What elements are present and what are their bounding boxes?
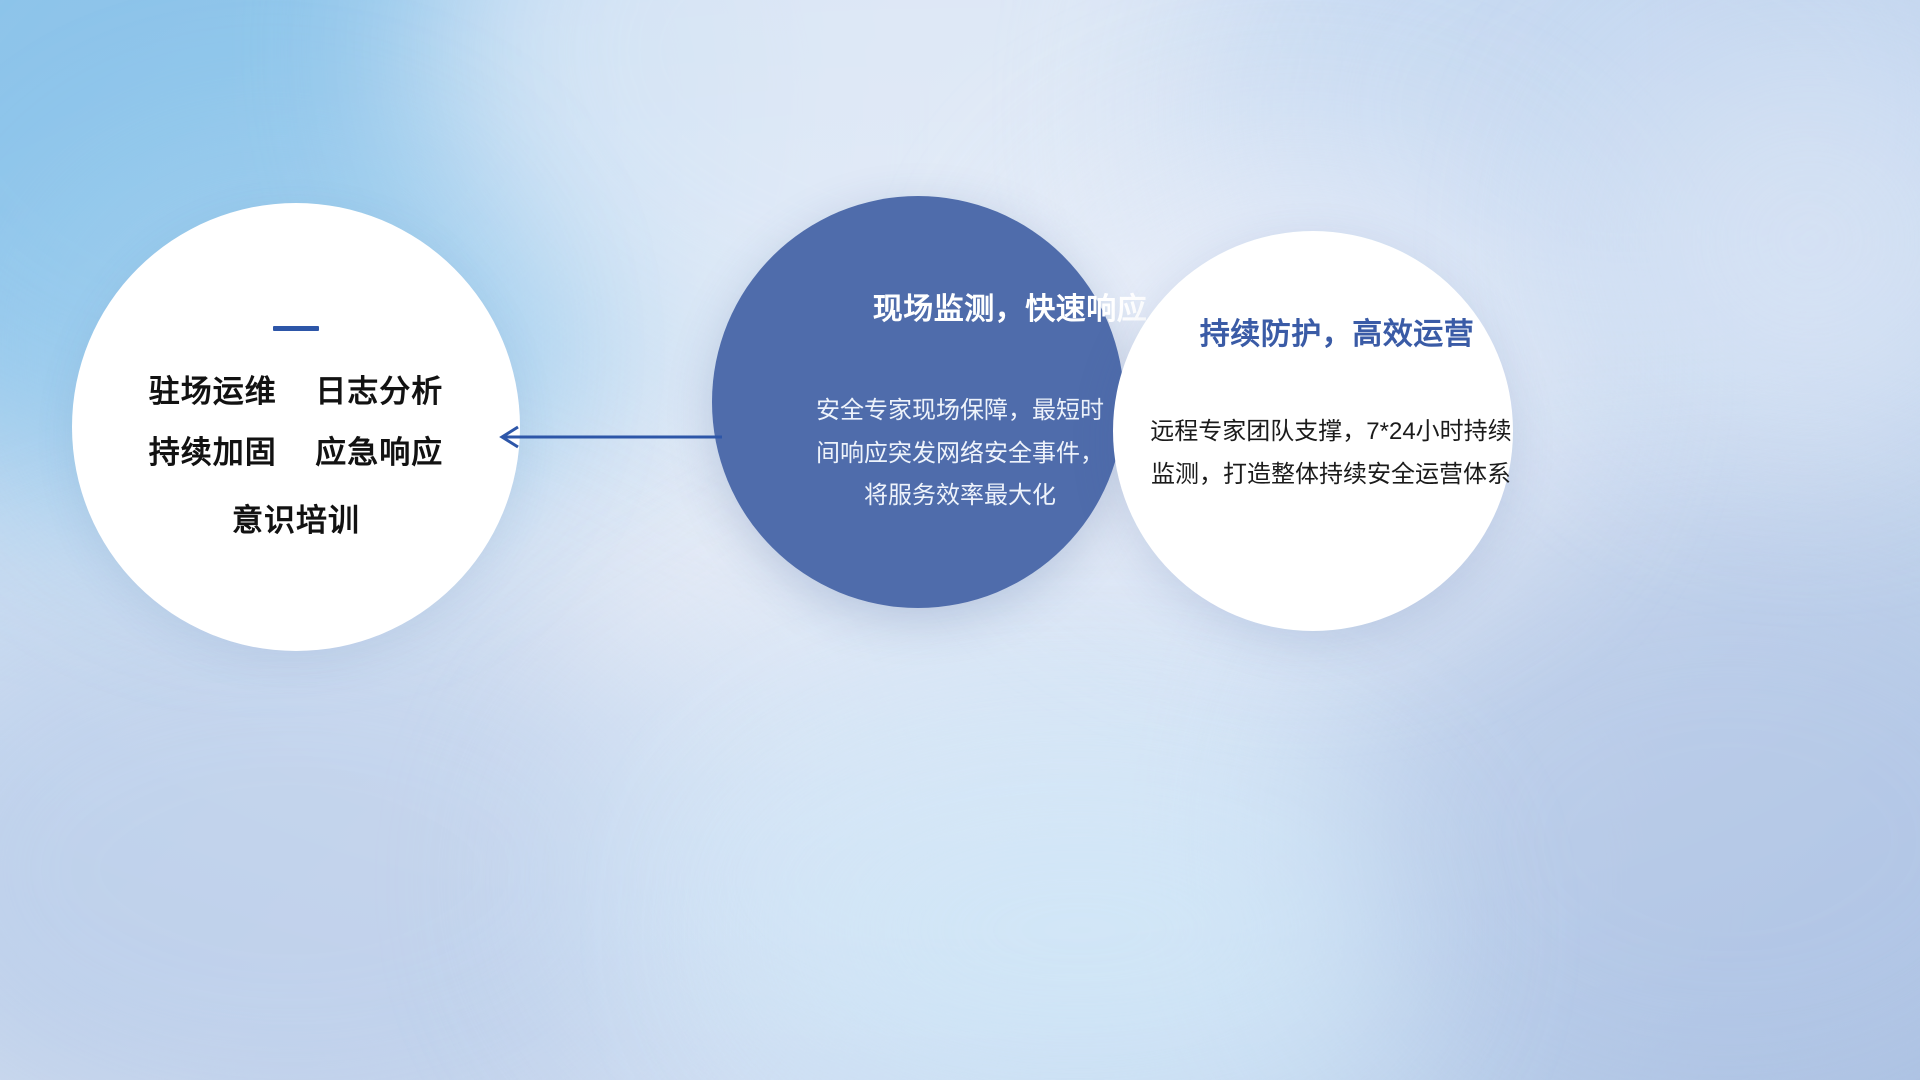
slide-canvas: 驻场运维 日志分析 持续加固 应急响应 意识培训 现场监测，快速响应 安全专家现… bbox=[0, 0, 1920, 1080]
divider-dash-icon bbox=[273, 303, 319, 355]
arrow-left-icon bbox=[496, 424, 722, 450]
capability-line: 驻场运维 日志分析 bbox=[149, 361, 443, 422]
right-operations-circle: 持续防护，高效运营 远程专家团队支撑，7*24小时持续监测，打造整体持续安全运营… bbox=[1113, 231, 1513, 631]
right-circle-body: 远程专家团队支撑，7*24小时持续监测，打造整体持续安全运营体系 bbox=[1140, 411, 1522, 496]
capability-list: 驻场运维 日志分析 持续加固 应急响应 意识培训 bbox=[149, 361, 443, 551]
middle-onsite-circle: 现场监测，快速响应 安全专家现场保障，最短时间响应突发网络安全事件，将服务效率最… bbox=[712, 196, 1124, 608]
middle-circle-title: 现场监测，快速响应 bbox=[873, 284, 1148, 328]
right-circle-title: 持续防护，高效运营 bbox=[1200, 309, 1475, 353]
middle-circle-body: 安全专家现场保障，最短时间响应突发网络安全事件，将服务效率最大化 bbox=[810, 390, 1110, 518]
capability-line: 持续加固 应急响应 bbox=[149, 422, 443, 483]
left-capability-circle: 驻场运维 日志分析 持续加固 应急响应 意识培训 bbox=[72, 203, 520, 651]
capability-line: 意识培训 bbox=[149, 490, 443, 551]
